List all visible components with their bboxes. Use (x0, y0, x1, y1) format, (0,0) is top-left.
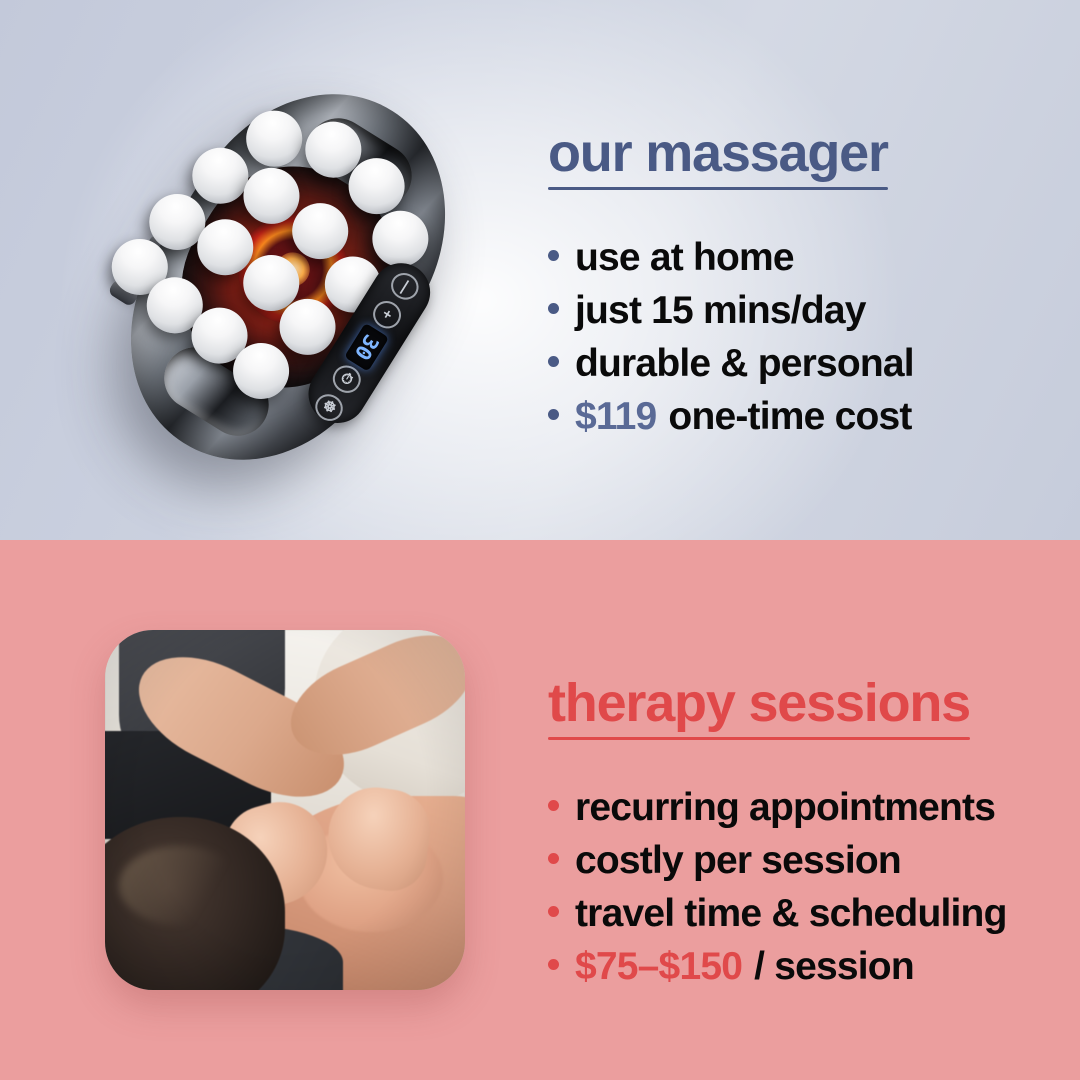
price-value: $119 (575, 397, 656, 436)
list-item-text: / session (754, 947, 914, 986)
massager-benefit-list: use at home just 15 mins/day durable & p… (548, 238, 914, 436)
device-display: 30 (345, 323, 390, 372)
bullet-dot-icon (548, 853, 559, 864)
list-item-text: travel time & scheduling (575, 894, 1007, 933)
list-item: just 15 mins/day (548, 291, 914, 330)
list-item-price: $119 one-time cost (548, 397, 914, 436)
bullet-dot-icon (548, 250, 559, 261)
list-item-text: recurring appointments (575, 788, 995, 827)
list-item: travel time & scheduling (548, 894, 1007, 933)
price-value: $75–$150 (575, 947, 742, 986)
massager-panel: ∣ + 30 ⏱ ☸ our massager use at home (0, 0, 1080, 540)
list-item: use at home (548, 238, 914, 277)
list-item: recurring appointments (548, 788, 1007, 827)
massager-text-block: our massager use at home just 15 mins/da… (548, 126, 914, 436)
list-item-text: just 15 mins/day (575, 291, 866, 330)
bullet-dot-icon (548, 959, 559, 970)
list-item-text: durable & personal (575, 344, 914, 383)
photo-vignette (105, 630, 465, 990)
bullet-dot-icon (548, 800, 559, 811)
list-item-text: one-time cost (668, 397, 911, 436)
therapy-heading: therapy sessions (548, 676, 970, 730)
list-item: costly per session (548, 841, 1007, 880)
therapy-heading-text: therapy sessions (548, 673, 970, 733)
massage-therapy-photo (105, 630, 465, 990)
comparison-poster: ∣ + 30 ⏱ ☸ our massager use at home (0, 0, 1080, 1080)
list-item-price: $75–$150 / session (548, 947, 1007, 986)
bullet-dot-icon (548, 303, 559, 314)
power-icon[interactable]: ∣ (386, 268, 424, 305)
heading-underline (548, 187, 888, 190)
bullet-dot-icon (548, 906, 559, 917)
list-item-text: costly per session (575, 841, 901, 880)
bullet-dot-icon (548, 356, 559, 367)
therapy-drawback-list: recurring appointments costly per sessio… (548, 788, 1007, 986)
massager-product-image: ∣ + 30 ⏱ ☸ (78, 42, 498, 512)
therapy-text-block: therapy sessions recurring appointments … (548, 676, 1007, 986)
list-item-text: use at home (575, 238, 794, 277)
massager-device: ∣ + 30 ⏱ ☸ (78, 45, 498, 510)
bullet-dot-icon (548, 409, 559, 420)
heading-underline (548, 737, 970, 740)
list-item: durable & personal (548, 344, 914, 383)
massager-heading: our massager (548, 126, 888, 180)
massager-heading-text: our massager (548, 123, 888, 183)
